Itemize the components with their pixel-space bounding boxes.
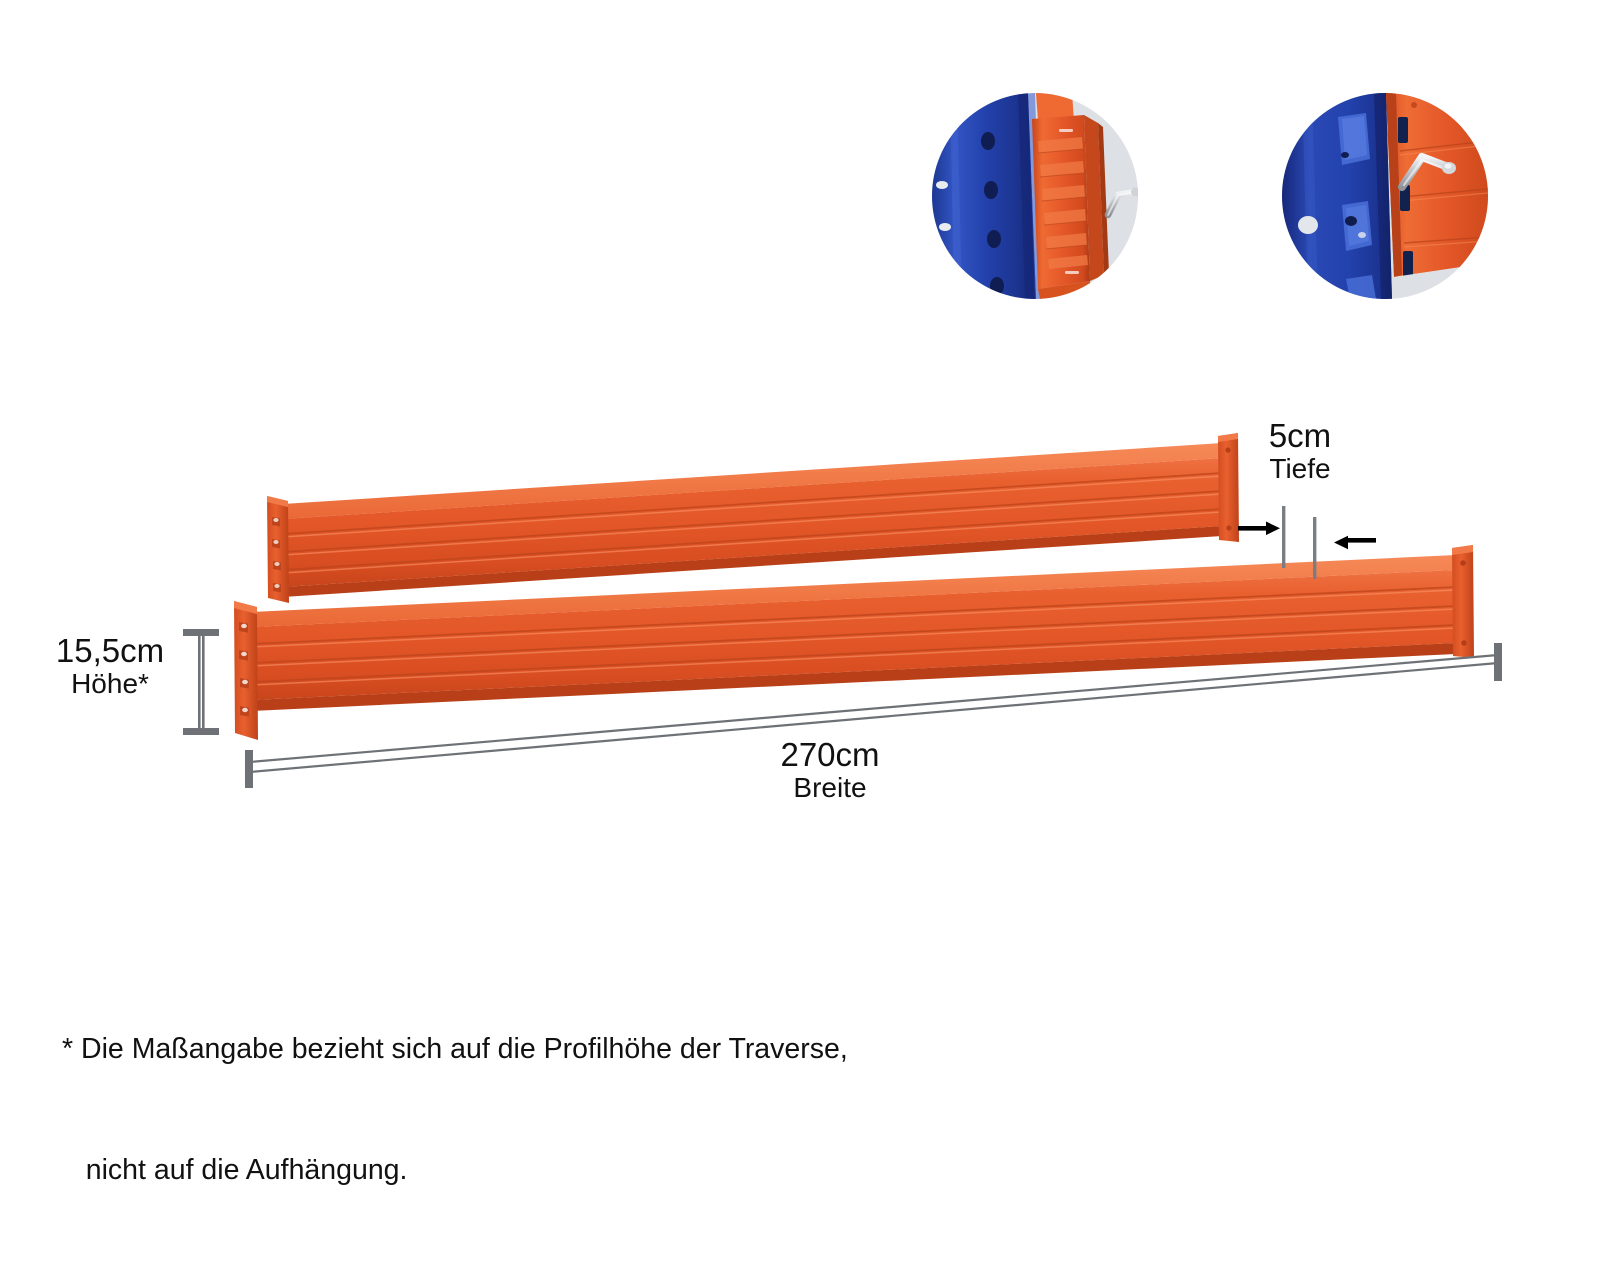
depth-caption: Tiefe <box>1200 454 1400 484</box>
illustration-canvas: 15,5cm Höhe* 270cm Breite 5cm Tiefe * Di… <box>0 0 1600 1100</box>
footnote: * Die Maßangabe bezieht sich auf die Pro… <box>62 948 848 1272</box>
inset-safety-pin-detail <box>1282 93 1488 299</box>
footnote-line-2: nicht auf die Aufhängung. <box>62 1150 848 1190</box>
width-value: 270cm <box>700 737 960 773</box>
depth-value: 5cm <box>1200 418 1400 454</box>
footnote-line-1: * Die Maßangabe bezieht sich auf die Pro… <box>62 1029 848 1069</box>
inset-connector-plate-detail <box>932 93 1138 299</box>
height-value: 15,5cm <box>30 633 190 669</box>
height-caption: Höhe* <box>30 669 190 699</box>
depth-dimension-label: 5cm Tiefe <box>1200 418 1400 484</box>
width-dimension-label: 270cm Breite <box>700 737 960 803</box>
height-dimension-label: 15,5cm Höhe* <box>30 633 190 699</box>
width-caption: Breite <box>700 773 960 803</box>
